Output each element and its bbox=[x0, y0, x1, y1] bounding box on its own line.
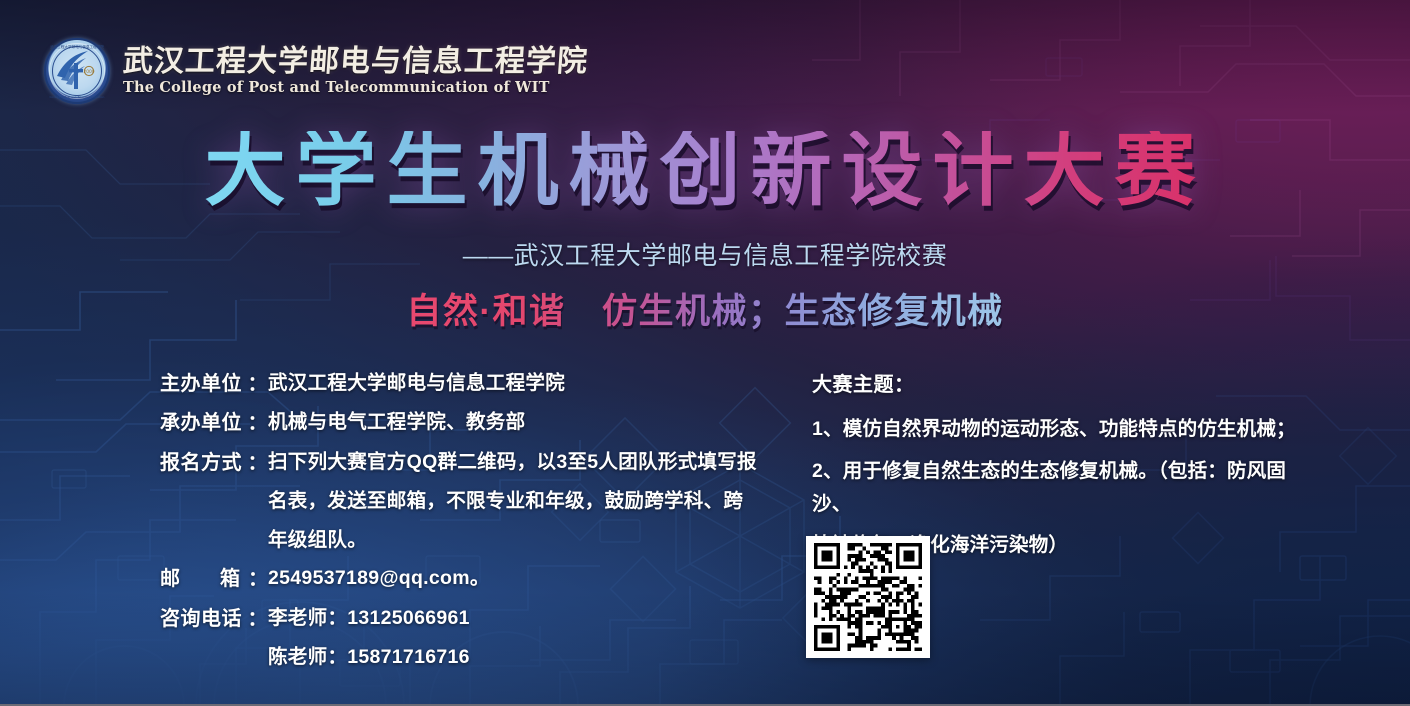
info-label-colon: ： bbox=[248, 563, 268, 595]
svg-text:2000: 2000 bbox=[83, 69, 94, 75]
email-value[interactable]: 2549537189@qq.com。 bbox=[268, 563, 490, 595]
main-title-wrap: 大学生机械创新设计大赛 bbox=[0, 131, 1410, 212]
info-label-colon: ： bbox=[248, 603, 269, 635]
info-label: 邮 箱 ： bbox=[160, 563, 268, 595]
info-label: 承办单位 ： bbox=[160, 407, 268, 439]
theme-heading: 大赛主题： bbox=[812, 368, 1322, 397]
subtitle: ——武汉工程大学邮电与信息工程学院校赛 bbox=[0, 236, 1410, 272]
theme-item: 1、模仿自然界动物的运动形态、功能特点的仿生机械； bbox=[812, 413, 1322, 446]
info-label-colon: ： bbox=[248, 368, 269, 400]
svg-text:College of Post and Telecommun: College of Post and Telecommunication bbox=[50, 95, 105, 99]
info-row: 报名方式 ： 扫下列大赛官方QQ群二维码，以3至5人团队形式填写报 bbox=[160, 447, 780, 479]
info-label: 报名方式 ： bbox=[160, 447, 268, 479]
info-value: 扫下列大赛官方QQ群二维码，以3至5人团队形式填写报 bbox=[268, 447, 757, 479]
info-label: 主办单位 ： bbox=[160, 368, 268, 400]
organizer-info-column: 主办单位 ： 武汉工程大学邮电与信息工程学院 承办单位 ： 机械与电气工程学院、… bbox=[160, 368, 780, 681]
phone-value-li[interactable]: 李老师：13125066961 bbox=[268, 603, 470, 635]
info-label-colon: ： bbox=[248, 447, 269, 479]
info-row-email: 邮 箱 ： 2549537189@qq.com。 bbox=[160, 563, 780, 595]
info-label-colon: ： bbox=[248, 407, 269, 439]
college-wordmark: 武汉工程大学邮电与信息工程学院 The College of Post and … bbox=[123, 46, 588, 97]
svg-text:武汉工程大学邮电与信息工程学院: 武汉工程大学邮电与信息工程学院 bbox=[50, 44, 104, 49]
info-label: 咨询电话 ： bbox=[160, 603, 268, 635]
theme-slogan: 自然·和谐 仿生机械；生态修复机械 bbox=[406, 290, 1003, 334]
college-header: 2000 武汉工程大学邮电与信息工程学院 College of Post and… bbox=[44, 38, 588, 104]
info-value: 年级组队。 bbox=[268, 525, 367, 557]
info-value: 机械与电气工程学院、教务部 bbox=[268, 407, 525, 439]
qq-group-qr-code[interactable] bbox=[806, 536, 930, 658]
info-row: 主办单位 ： 武汉工程大学邮电与信息工程学院 bbox=[160, 368, 780, 400]
theme-item: 2、用于修复自然生态的生态修复机械。（包括：防风固沙、 bbox=[812, 455, 1322, 521]
info-row-phone: 咨询电话 ： 李老师：13125066961 bbox=[160, 603, 780, 635]
info-value: 武汉工程大学邮电与信息工程学院 bbox=[268, 368, 565, 400]
info-value: 名表，发送至邮箱，不限专业和年级，鼓励跨学科、跨 bbox=[268, 486, 743, 518]
wit-college-seal-icon: 2000 武汉工程大学邮电与信息工程学院 College of Post and… bbox=[44, 38, 110, 104]
info-row-phone-second: 陈老师：15871716716 bbox=[160, 642, 780, 674]
info-row: 承办单位 ： 机械与电气工程学院、教务部 bbox=[160, 407, 780, 439]
info-label-text: 承办单位 bbox=[160, 407, 242, 439]
info-label-text: 主办单位 bbox=[160, 368, 242, 400]
theme-line-wrap: 自然·和谐 仿生机械；生态修复机械 bbox=[0, 290, 1410, 334]
info-row-continuation: 名表，发送至邮箱，不限专业和年级，鼓励跨学科、跨 bbox=[160, 486, 780, 518]
competition-poster: 2000 武汉工程大学邮电与信息工程学院 College of Post and… bbox=[0, 0, 1410, 706]
info-row-continuation: 年级组队。 bbox=[160, 525, 780, 557]
page-title: 大学生机械创新设计大赛 bbox=[204, 131, 1205, 212]
info-label-text: 报名方式 bbox=[160, 447, 242, 479]
info-label-text: 咨询电话 bbox=[160, 603, 242, 635]
info-label-text: 邮 箱 bbox=[160, 563, 240, 595]
college-name-en: The College of Post and Telecommunicatio… bbox=[123, 79, 588, 96]
phone-value-chen[interactable]: 陈老师：15871716716 bbox=[268, 642, 470, 674]
college-name-cn: 武汉工程大学邮电与信息工程学院 bbox=[122, 46, 589, 78]
